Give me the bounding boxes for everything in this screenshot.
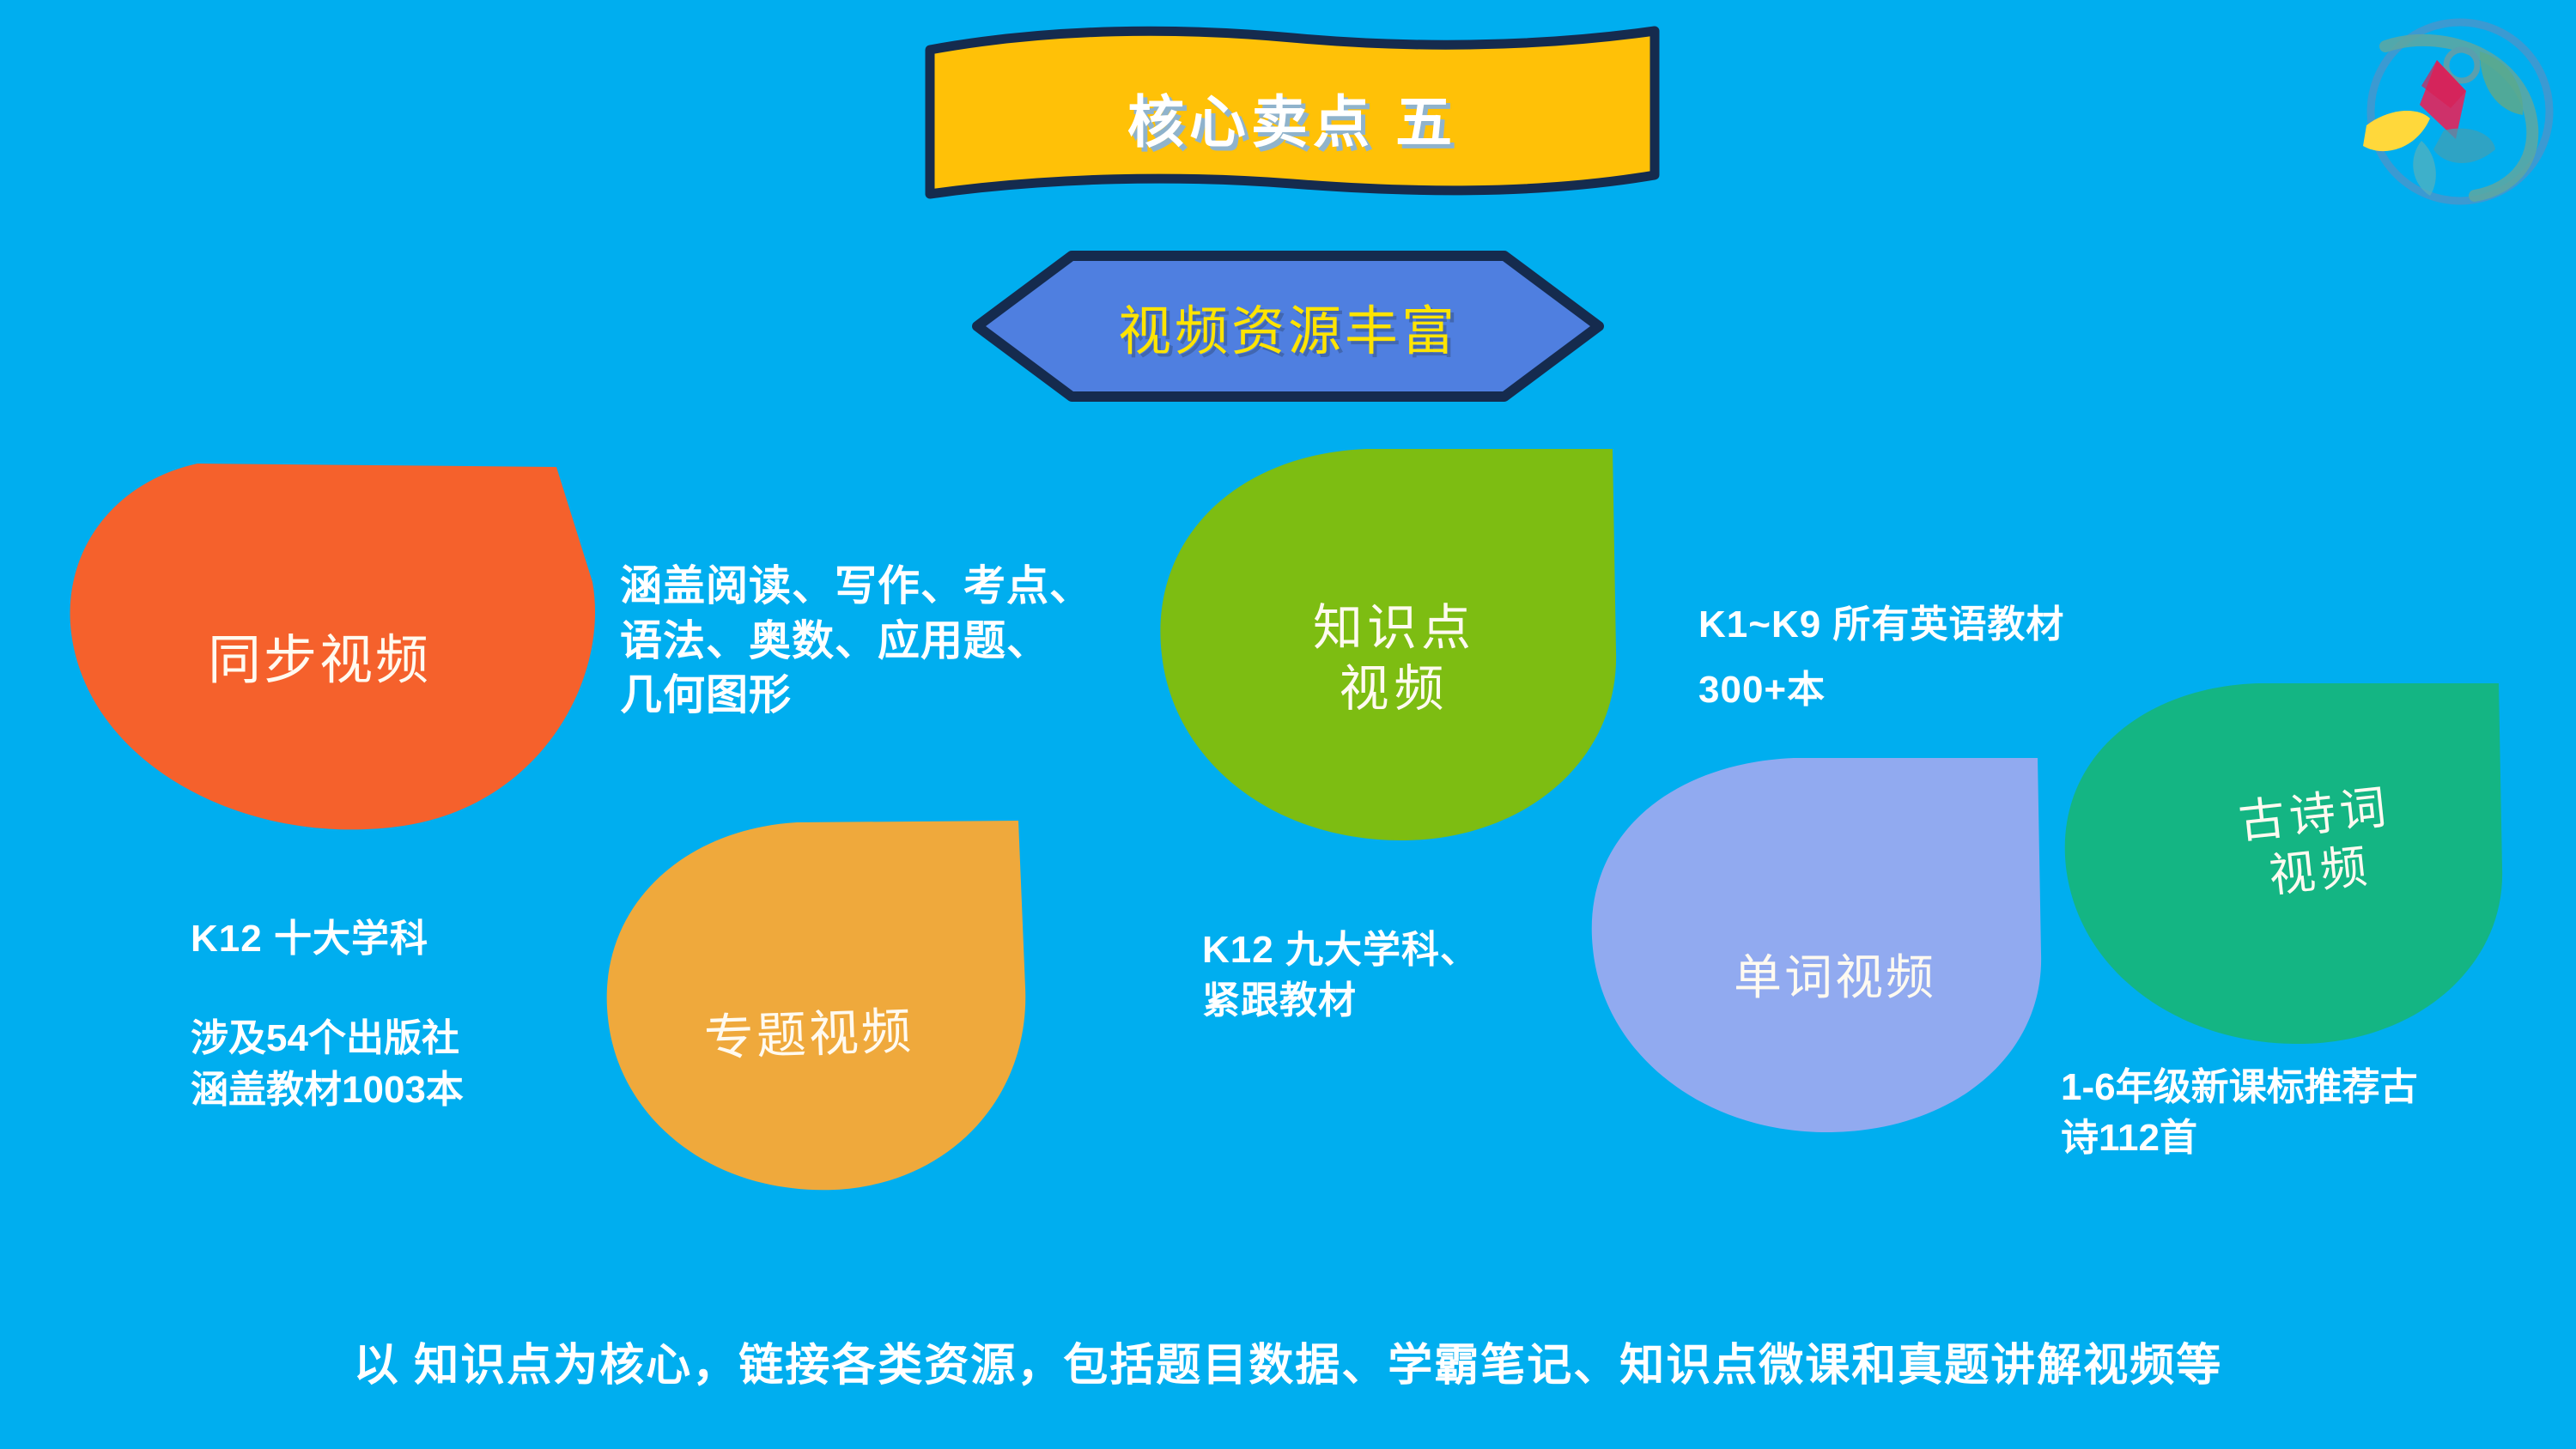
brand-logo bbox=[2354, 12, 2566, 211]
caption-k12-ten: K12 十大学科 bbox=[191, 914, 428, 963]
globe-figure-leaf-logo-icon bbox=[2354, 12, 2566, 211]
caption-subjects: 涵盖阅读、写作、考点、 语法、奥数、应用题、 几何图形 bbox=[620, 560, 1092, 724]
blob-shape-word bbox=[1584, 743, 2048, 1137]
banner-title: 核心卖点 五 bbox=[923, 24, 1662, 204]
card-sync-video[interactable]: 同步视频 bbox=[60, 455, 610, 833]
card-word-video[interactable]: 单词视频 bbox=[1584, 743, 2048, 1137]
blob-shape-poem bbox=[2052, 678, 2507, 1047]
blob-shape-knowledge bbox=[1155, 442, 1623, 846]
subtitle-label: 视频资源丰富 bbox=[970, 249, 1606, 403]
caption-poems: 1-6年级新课标推荐古 诗112首 bbox=[2061, 1063, 2418, 1164]
banner-ribbon: 核心卖点 五 bbox=[923, 24, 1662, 204]
slide-canvas: 核心卖点 五 视频资源丰富 同步视频 bbox=[0, 0, 2576, 1449]
caption-k12-nine: K12 九大学科、 紧跟教材 bbox=[1202, 925, 1479, 1027]
caption-english: K1~K9 所有英语教材 300+本 bbox=[1698, 592, 2064, 722]
card-topic-video[interactable]: 专题视频 bbox=[601, 815, 1030, 1193]
card-knowledge-video[interactable]: 知识点 视频 bbox=[1155, 442, 1623, 846]
subtitle-hexagon: 视频资源丰富 bbox=[970, 249, 1606, 403]
blob-shape-sync bbox=[60, 455, 610, 833]
caption-publishers: 涉及54个出版社 涵盖教材1003本 bbox=[191, 1013, 464, 1116]
footer-summary: 以 知识点为核心，链接各类资源，包括题目数据、学霸笔记、知识点微课和真题讲解视频… bbox=[0, 1329, 2576, 1393]
blob-shape-topic bbox=[601, 815, 1030, 1193]
card-poem-video[interactable]: 古诗词 视频 bbox=[2052, 678, 2507, 1047]
